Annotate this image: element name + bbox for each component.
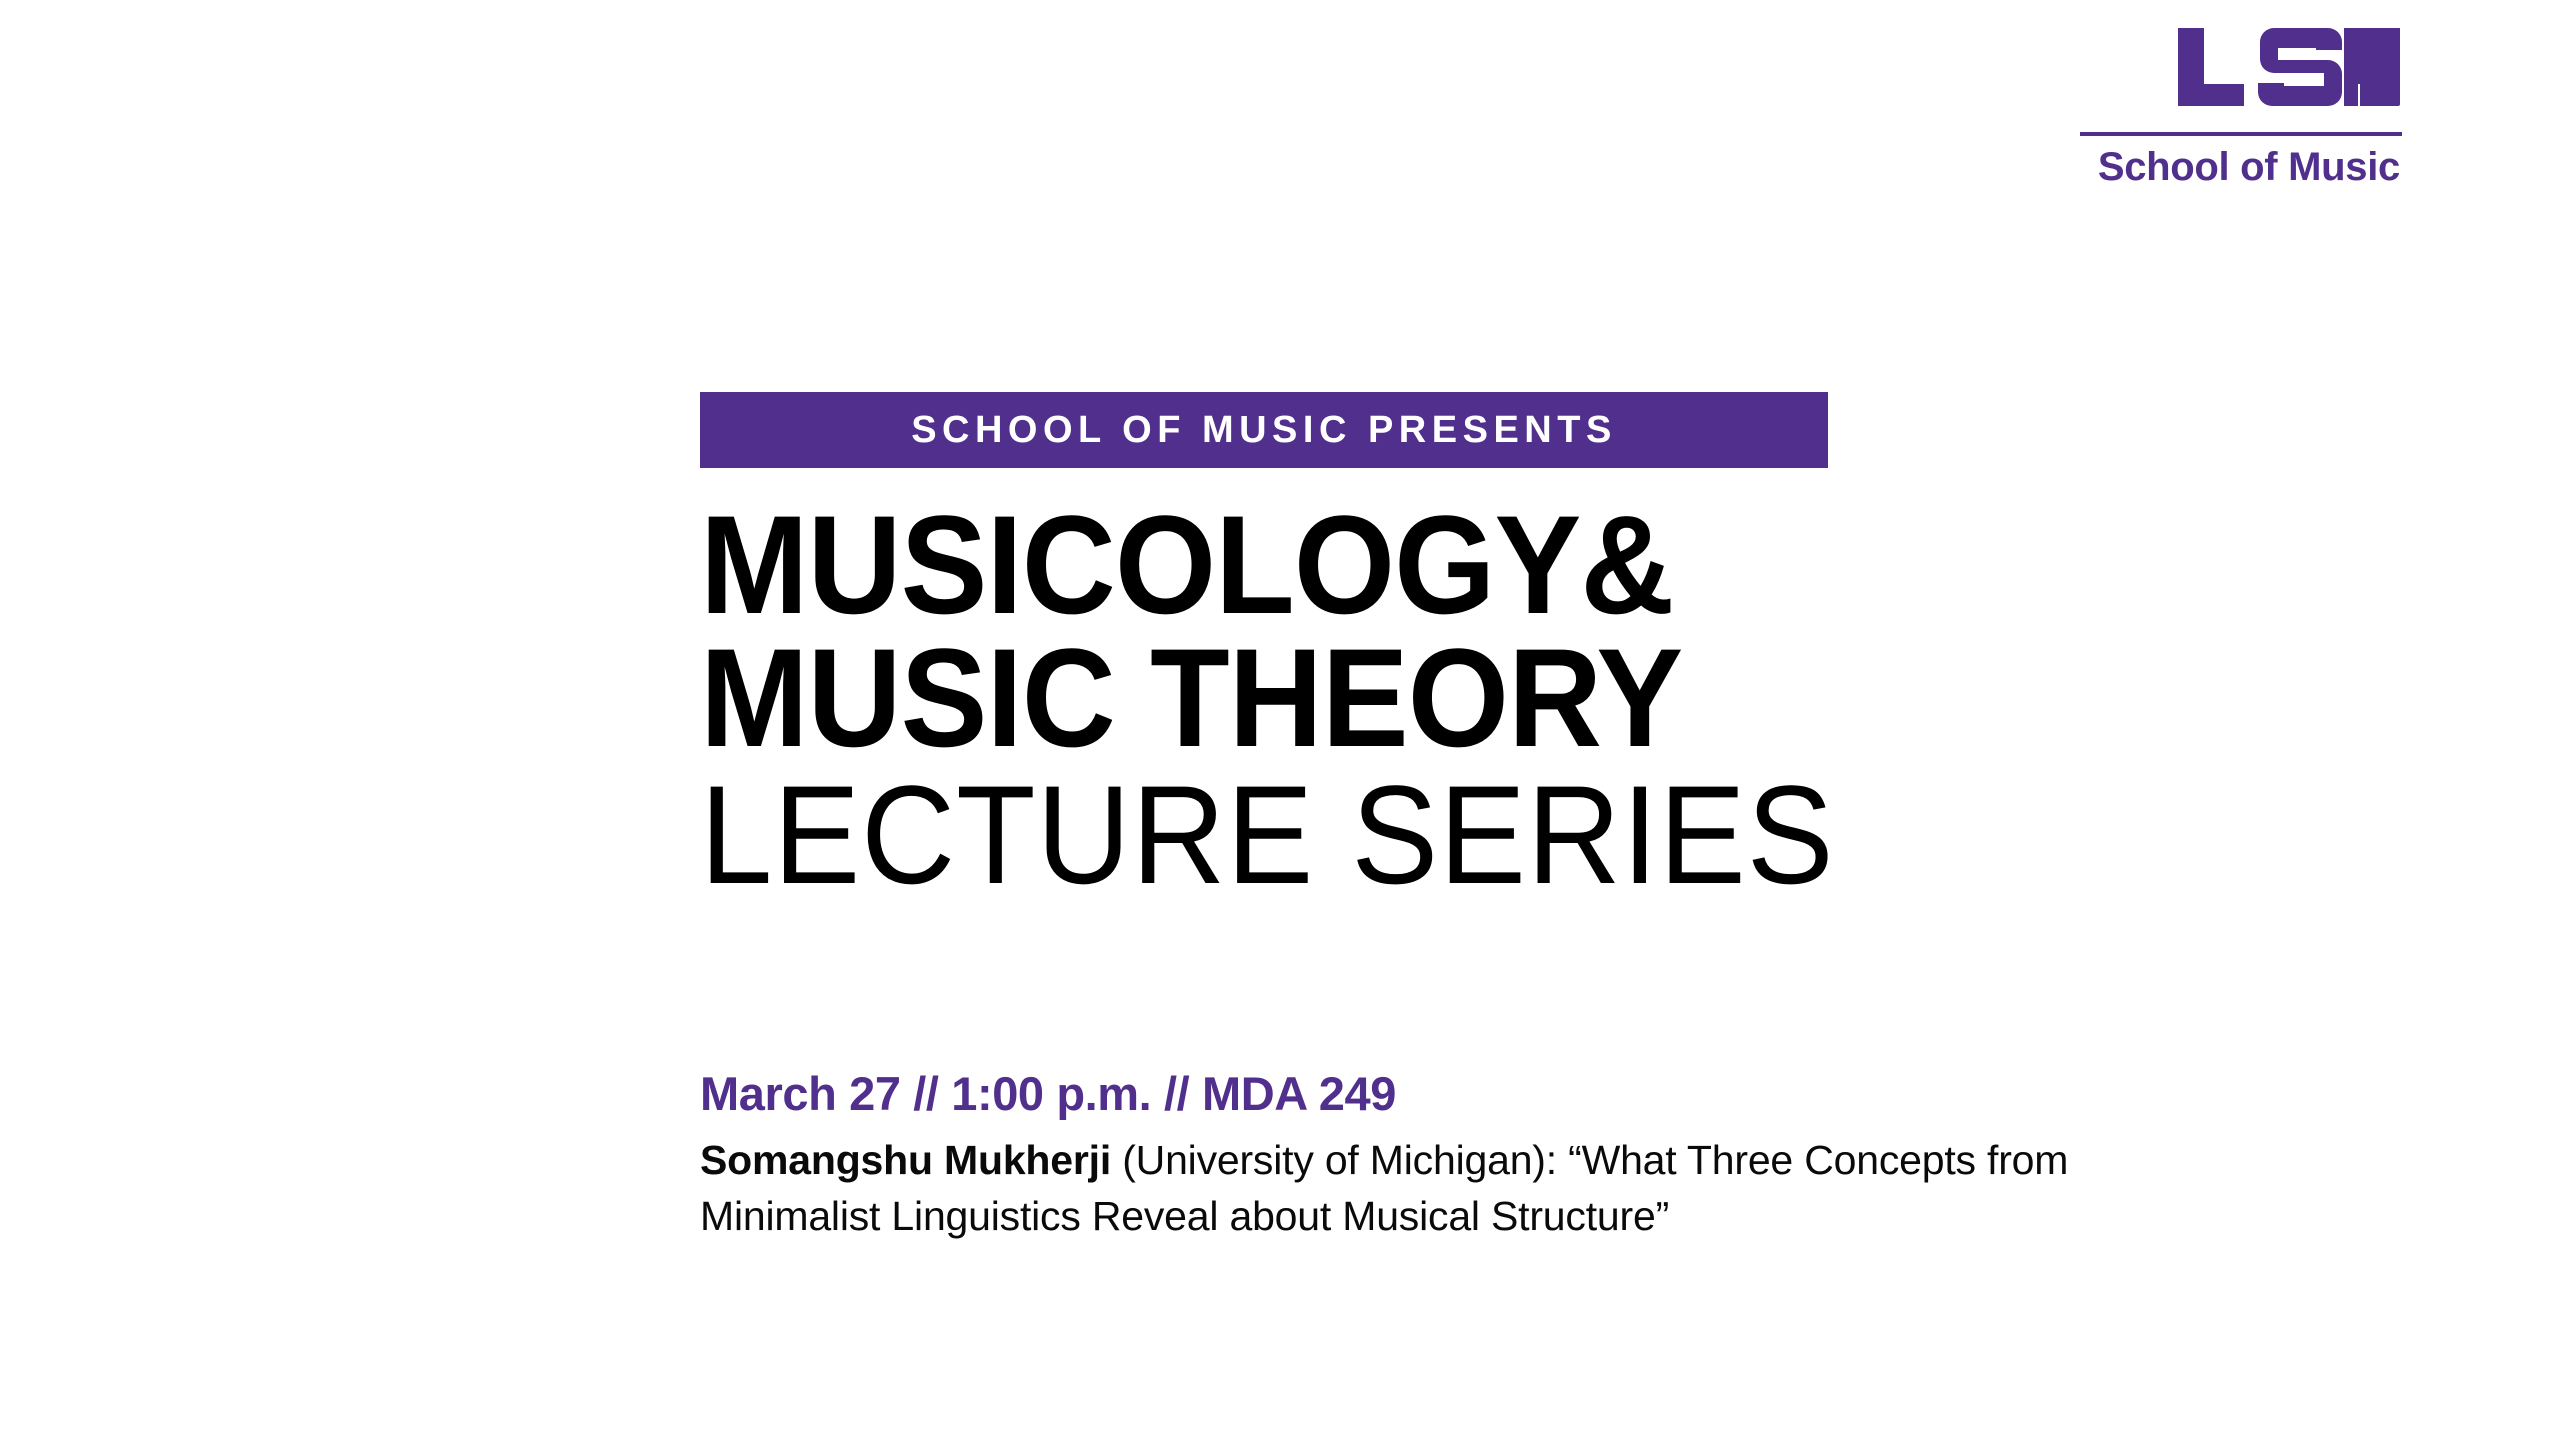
- event-speaker-name: Somangshu Mukherji: [700, 1137, 1111, 1183]
- event-details: March 27 // 1:00 p.m. // MDA 249 Somangs…: [700, 1065, 2200, 1245]
- poster-canvas: { "brand": { "accent_purple": "#512f8c",…: [0, 0, 2560, 1440]
- lsu-wordmark-icon: [2178, 28, 2400, 106]
- title-line-1: MUSICOLOGY&: [700, 498, 2095, 631]
- event-datetime-location: March 27 // 1:00 p.m. // MDA 249: [700, 1065, 2200, 1124]
- series-title: MUSICOLOGY& MUSIC THEORY LECTURE SERIES: [700, 498, 2200, 901]
- title-line-3: LECTURE SERIES: [700, 768, 2095, 901]
- poster-content: SCHOOL OF MUSIC PRESENTS MUSICOLOGY& MUS…: [700, 392, 2200, 1245]
- brand-divider-rule: [2080, 132, 2402, 136]
- presents-banner-label: SCHOOL OF MUSIC PRESENTS: [911, 411, 1617, 449]
- school-of-music-label: School of Music: [2080, 146, 2400, 188]
- event-description: Somangshu Mukherji (University of Michig…: [700, 1132, 2200, 1245]
- lsu-brand-lockup: School of Music: [2080, 28, 2400, 188]
- title-line-2: MUSIC THEORY: [700, 631, 2095, 764]
- presents-banner: SCHOOL OF MUSIC PRESENTS: [700, 392, 1828, 468]
